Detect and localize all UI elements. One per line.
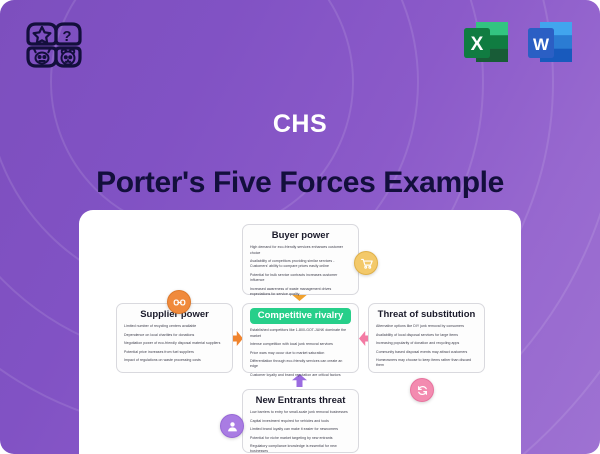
force-box-buyer-power[interactable]: Buyer power High demand for eco-friendly… [242,224,359,295]
person-icon [220,414,244,438]
list-item: High demand for eco-friendly services en… [250,245,351,256]
force-items-threat-of-substitution: Alternative options like DIY junk remova… [376,324,477,368]
list-item: Established competitors like 1-800-GOT-J… [250,328,351,339]
svg-text:?: ? [62,28,71,45]
list-item: Customer loyalty and brand reputation ar… [250,373,351,378]
office-icons: X W [460,16,576,68]
svg-text:W: W [533,35,550,54]
list-item: Availability of local disposal services … [376,333,477,338]
list-item: Capital investment required for vehicles… [250,419,351,424]
list-item: Availability of competitors providing si… [250,259,351,270]
force-title-buyer-power: Buyer power [250,231,351,241]
force-box-threat-of-substitution[interactable]: Threat of substitution Alternative optio… [368,303,485,373]
page-title: Porter's Five Forces Example [0,166,600,200]
force-items-supplier-power: Limited number of recycling centers avai… [124,324,225,363]
list-item: Dependence on local charities for donati… [124,333,225,338]
list-item: Homeowners may choose to keep items rath… [376,358,477,369]
list-item: Differentiation through eco-friendly ser… [250,359,351,370]
force-box-new-entrants-threat[interactable]: New Entrants threat Low barriers to entr… [242,389,359,453]
force-items-buyer-power: High demand for eco-friendly services en… [250,245,351,297]
recycle-icon [410,378,434,402]
list-item: Potential price increases from fuel supp… [124,350,225,355]
shopping-cart-icon [354,251,378,275]
force-items-new-entrants-threat: Low barriers to entry for small-scale ju… [250,410,351,454]
list-item: Increased awareness of waste management … [250,287,351,298]
force-items-competitive-rivalry: Established competitors like 1-800-GOT-J… [250,328,351,378]
force-title-threat-of-substitution: Threat of substitution [376,310,477,320]
force-box-supplier-power[interactable]: Supplier power Limited number of recycli… [116,303,233,373]
pet-grid-logo-icon: ? [22,18,86,72]
list-item: Limited number of recycling centers avai… [124,324,225,329]
list-item: Low barriers to entry for small-scale ju… [250,410,351,415]
list-item: Intense competition with local junk remo… [250,342,351,347]
list-item: Increasing popularity of donation and re… [376,341,477,346]
word-icon[interactable]: W [524,16,576,68]
list-item: Price wars may occur due to market satur… [250,351,351,356]
force-box-competitive-rivalry[interactable]: Competitive rivalry Established competit… [242,303,359,373]
list-item: Limited brand loyalty can make it easier… [250,427,351,432]
list-item: Regulatory compliance knowledge is essen… [250,444,351,454]
list-item: Negotiation power of eco-friendly dispos… [124,341,225,346]
list-item: Potential for bulk service contracts inc… [250,273,351,284]
list-item: Alternative options like DIY junk remova… [376,324,477,329]
list-item: Impact of regulations on waste processin… [124,358,225,363]
force-title-competitive-rivalry: Competitive rivalry [250,308,351,324]
list-item: Community based disposal events may attr… [376,350,477,355]
slide-canvas: ? [0,0,600,454]
link-chain-icon [167,290,191,314]
list-item: Potential for niche market targeting by … [250,436,351,441]
svg-text:X: X [471,34,484,55]
force-title-new-entrants-threat: New Entrants threat [250,396,351,406]
excel-icon[interactable]: X [460,16,512,68]
brand-name: CHS [0,110,600,139]
